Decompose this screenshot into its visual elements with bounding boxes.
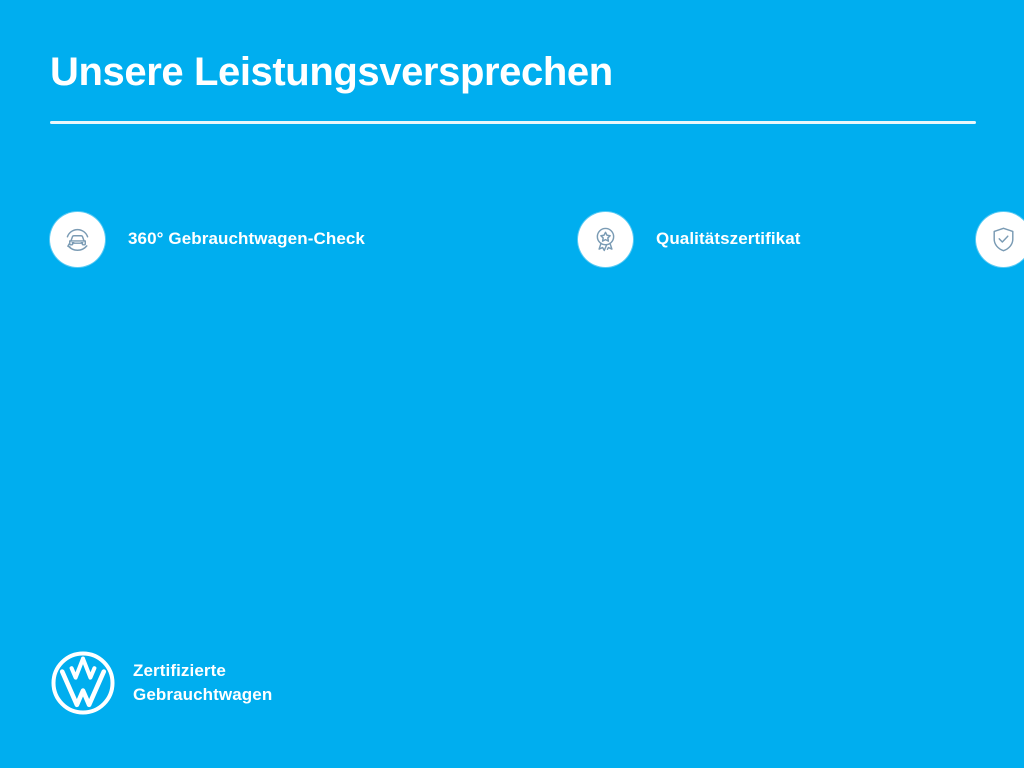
page-title: Unsere Leistungsversprechen bbox=[50, 50, 976, 95]
slide-root: Unsere Leistungsversprechen 360° Gebrauc… bbox=[0, 0, 1024, 768]
benefit-label: Qualitätszertifikat bbox=[656, 229, 801, 249]
volkswagen-logo-icon bbox=[50, 650, 116, 716]
header: Unsere Leistungsversprechen bbox=[50, 50, 976, 124]
brand-line-2: Gebrauchtwagen bbox=[133, 683, 272, 707]
benefits-grid: 360° Gebrauchtwagen-Check Qualitätszerti… bbox=[50, 200, 976, 278]
benefit-item-qualitaetszertifikat: Qualitätszertifikat bbox=[578, 200, 976, 278]
brand-line-1: Zertifizierte bbox=[133, 659, 272, 683]
benefit-label: 360° Gebrauchtwagen-Check bbox=[128, 229, 365, 249]
shield-check-icon bbox=[976, 212, 1024, 267]
award-rosette-icon bbox=[578, 212, 633, 267]
title-divider bbox=[50, 121, 976, 124]
brand-lockup: Zertifizierte Gebrauchtwagen bbox=[50, 650, 272, 716]
car-360-check-icon bbox=[50, 212, 105, 267]
benefit-item-gebrauchtwagengarantie: Gebrauchtwagengarantie bbox=[976, 200, 1024, 278]
benefit-item-360-check: 360° Gebrauchtwagen-Check bbox=[50, 200, 578, 278]
brand-text: Zertifizierte Gebrauchtwagen bbox=[133, 659, 272, 707]
